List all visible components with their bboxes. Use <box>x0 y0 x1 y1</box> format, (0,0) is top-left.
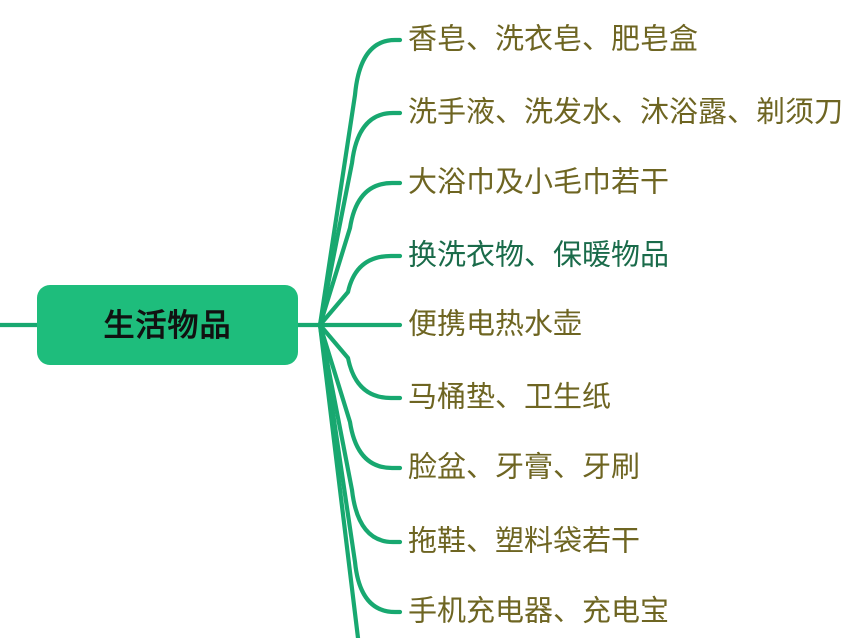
branch-label-2[interactable]: 洗手液、洗发水、沐浴露、剃须刀 <box>408 99 842 128</box>
branch-label-3[interactable]: 大浴巾及小毛巾若干 <box>408 169 669 198</box>
branch-label-6[interactable]: 马桶垫、卫生纸 <box>408 384 611 413</box>
branch-label-8[interactable]: 拖鞋、塑料袋若干 <box>408 528 640 557</box>
branch-label-5[interactable]: 便携电热水壶 <box>408 311 582 340</box>
branch-label-4[interactable]: 换洗衣物、保暖物品 <box>408 242 669 271</box>
branch-label-9[interactable]: 手机充电器、充电宝 <box>408 598 669 627</box>
mindmap-canvas: 生活物品 香皂、洗衣皂、肥皂盒 洗手液、洗发水、沐浴露、剃须刀 大浴巾及小毛巾若… <box>0 0 842 638</box>
root-node[interactable]: 生活物品 <box>37 285 298 365</box>
branch-label-7[interactable]: 脸盆、牙膏、牙刷 <box>408 454 640 483</box>
branch-label-1[interactable]: 香皂、洗衣皂、肥皂盒 <box>408 26 698 55</box>
root-node-label: 生活物品 <box>104 310 232 341</box>
